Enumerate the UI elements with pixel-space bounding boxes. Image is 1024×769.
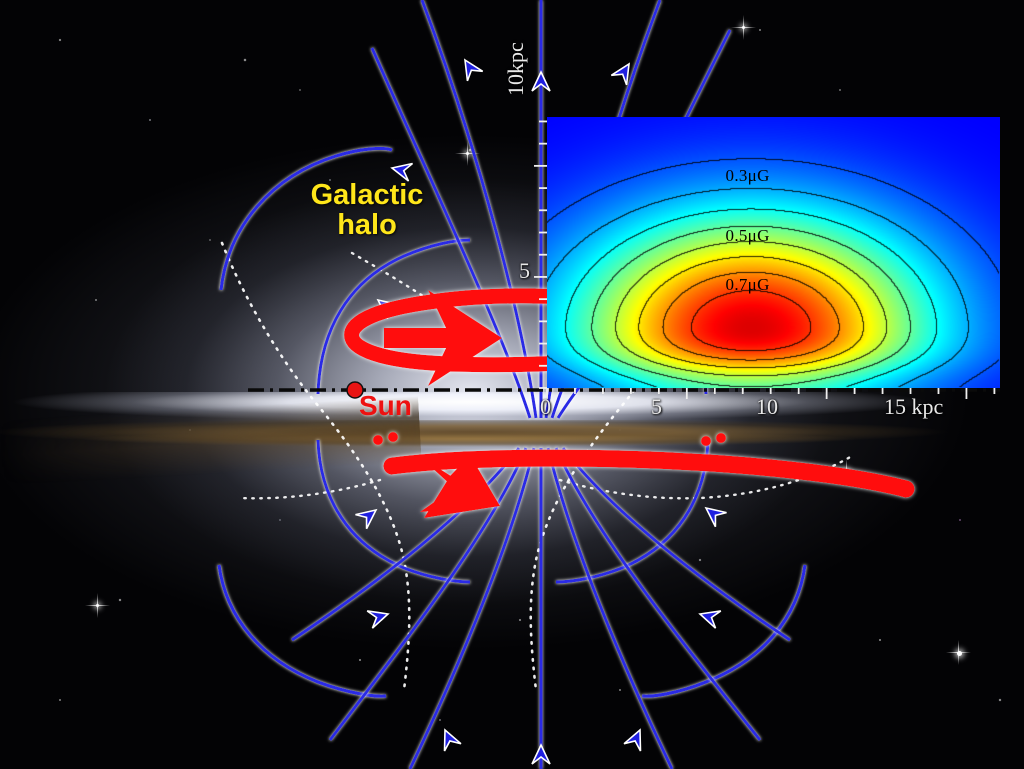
inset-axes: [0, 0, 1024, 769]
xtick-label-5: 5: [651, 394, 662, 420]
xtick-label-15: 15 kpc: [884, 394, 943, 420]
xtick-label-0: 0: [540, 394, 551, 420]
ytick-label-10: 10kpc: [503, 42, 529, 96]
figure-canvas: Galactic halo Sun 0.3μG 0.5μG 0.7μG 0 5 …: [0, 0, 1024, 769]
xtick-label-10: 10: [756, 394, 778, 420]
ytick-label-5: 5: [519, 258, 530, 284]
